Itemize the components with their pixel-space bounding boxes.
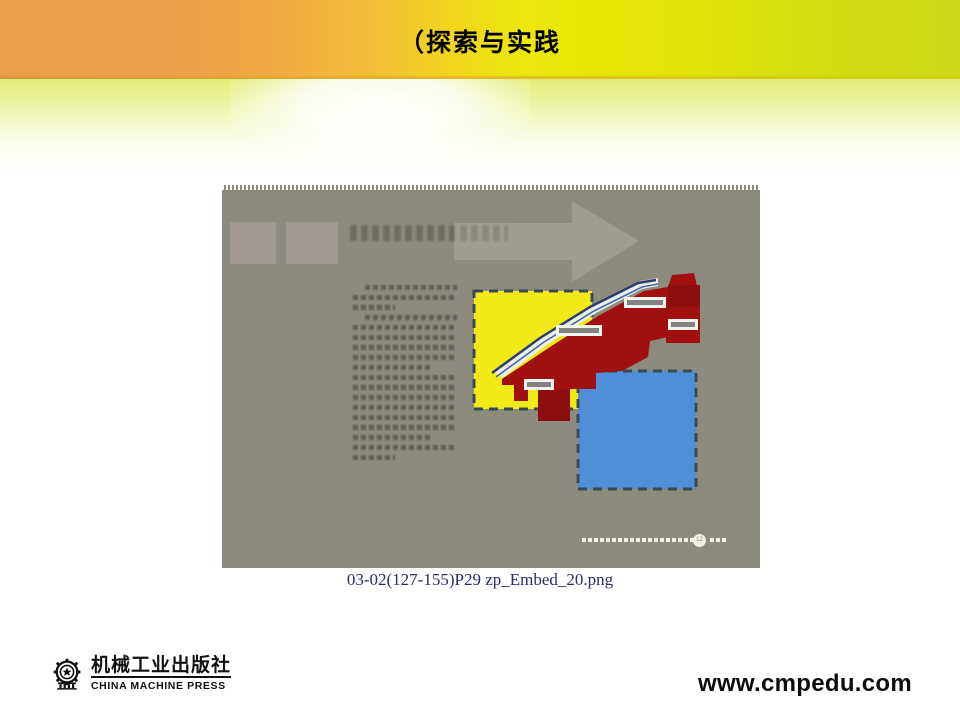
map-label-top [624,297,666,308]
publisher-logo: 机械工业出版社 CHINA MACHINE PRESS [52,655,232,693]
thematic-map [472,261,724,519]
publisher-name-cn: 机械工业出版社 [91,655,231,678]
image-top-edge-strip [222,185,760,190]
publisher-name-en: CHINA MACHINE PRESS [91,679,231,693]
presentation-slide: （探索与实践 [0,0,960,718]
map-label-right [668,319,698,330]
image-caption: 03-02(127-155)P29 zp_Embed_20.png [0,570,960,590]
map-label-center [556,325,602,336]
ghost-box-left [230,222,276,264]
site-url: www.cmpedu.com [698,670,912,698]
page-dot-row: 12 [582,533,732,547]
page-number-badge: 12 [693,534,706,547]
gear-star-icon [52,658,84,690]
publisher-text: 机械工业出版社 CHINA MACHINE PRESS [91,655,231,693]
embedded-body-text [353,285,457,460]
ghost-box-right [286,222,338,264]
map-label-bottom [524,379,554,390]
slide-title: （探索与实践 [0,28,960,58]
header-glow-highlight [230,79,530,169]
embedded-image[interactable]: 12 [222,185,760,568]
